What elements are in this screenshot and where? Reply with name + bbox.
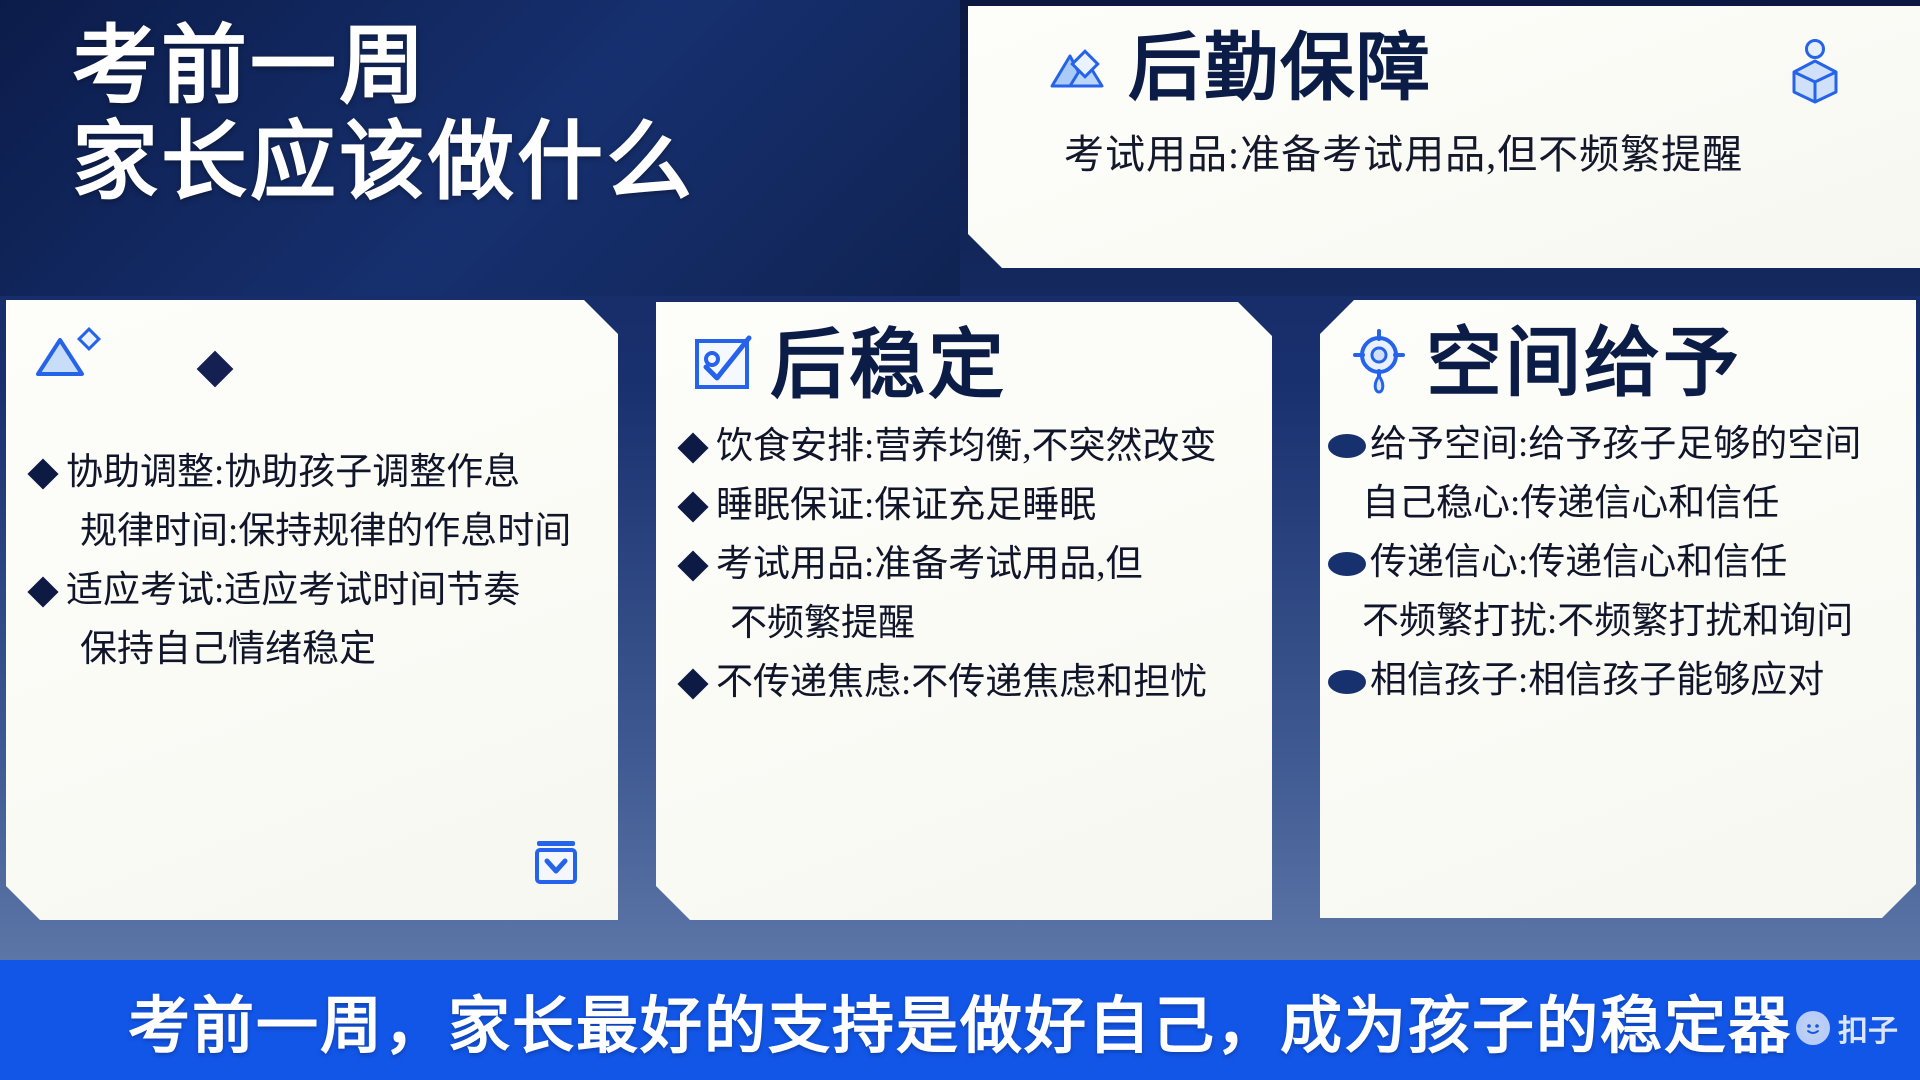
space-title: 空间给予 — [1426, 326, 1742, 402]
list-item-label: 睡眠保证:保证充足睡眠 — [716, 487, 1096, 524]
list-item[interactable]: 不传递焦虑:不传递焦虑和担忧 — [682, 664, 1250, 701]
mountain-diamond-icon — [32, 324, 106, 387]
mountain-diamond-icon — [1048, 42, 1110, 97]
list-item-label: 饮食安排:营养均衡,不突然改变 — [716, 428, 1217, 465]
card-logistics[interactable]: 后勤保障 考试用品:准备考试用品,但不频繁提醒 — [968, 6, 1920, 268]
coze-face-icon — [1796, 1011, 1830, 1045]
list-item-label: 不频繁打扰:不频繁打扰和询问 — [1362, 603, 1853, 640]
list-item-label: 适应考试:适应考试时间节奏 — [66, 572, 520, 609]
logistics-title: 后勤保障 — [1128, 32, 1432, 106]
list-item[interactable]: 规律时间:保持规律的作息时间 — [32, 513, 596, 550]
oval-bullet-icon — [1328, 670, 1366, 694]
list-item-label: 自己稳心:传递信心和信任 — [1362, 485, 1779, 522]
infographic-canvas: 考前一周 家长应该做什么 后勤保障 考试用品:准备考试用品,但不频繁提醒 — [0, 0, 1920, 1080]
list-item[interactable]: 传递信心:传递信心和信任 — [1328, 544, 1894, 581]
oval-bullet-icon — [1328, 552, 1366, 576]
title-line-2: 家长应该做什么 — [72, 114, 952, 210]
list-item-label: 相信孩子:相信孩子能够应对 — [1370, 662, 1824, 699]
diamond-bullet-icon — [677, 550, 708, 581]
list-item[interactable]: 协助调整:协助孩子调整作息 — [32, 454, 596, 491]
checkbox-check-icon — [692, 333, 754, 400]
list-item[interactable]: 自己稳心:传递信心和信任 — [1328, 485, 1894, 522]
list-item[interactable]: 适应考试:适应考试时间节奏 — [32, 572, 596, 609]
diamond-bullet-icon — [677, 668, 708, 699]
stable-title: 后稳定 — [770, 328, 1007, 404]
list-item-label: 保持自己情绪稳定 — [80, 631, 376, 668]
diamond-bullet-icon — [677, 432, 708, 463]
stable-body: 饮食安排:营养均衡,不突然改变 睡眠保证:保证充足睡眠 考试用品:准备考试用品,… — [656, 404, 1272, 701]
list-item-label: 给予空间:给予孩子足够的空间 — [1370, 426, 1861, 463]
title-line-1: 考前一周 — [72, 18, 952, 114]
list-item[interactable]: 相信孩子:相信孩子能够应对 — [1328, 662, 1894, 699]
card-adjust[interactable]: 协助调整:协助孩子调整作息 规律时间:保持规律的作息时间 适应考试:适应考试时间… — [6, 300, 618, 920]
list-item-label: 不传递焦虑:不传递焦虑和担忧 — [716, 664, 1207, 701]
logistics-subtitle: 考试用品:准备考试用品,但不频繁提醒 — [1064, 122, 1920, 180]
list-item-label: 不频繁提醒 — [730, 605, 915, 642]
page-title: 考前一周 家长应该做什么 — [72, 18, 952, 211]
logistics-header: 后勤保障 — [968, 6, 1920, 106]
calendar-chevron-icon[interactable] — [530, 837, 582, 894]
list-item-label: 协助调整:协助孩子调整作息 — [66, 454, 520, 491]
list-item[interactable]: 保持自己情绪稳定 — [32, 631, 596, 668]
diamond-bullet-icon — [677, 491, 708, 522]
oval-bullet-icon — [1328, 434, 1366, 458]
list-item-label: 规律时间:保持规律的作息时间 — [80, 513, 571, 550]
target-crosshair-icon — [1348, 328, 1410, 401]
space-header: 空间给予 — [1320, 300, 1916, 402]
card-space[interactable]: 空间给予 给予空间:给予孩子足够的空间 自己稳心:传递信心和信任 传递信心:传递… — [1320, 300, 1916, 918]
list-item-label: 传递信心:传递信心和信任 — [1370, 544, 1787, 581]
list-item[interactable]: 不频繁打扰:不频繁打扰和询问 — [1328, 603, 1894, 640]
space-body: 给予空间:给予孩子足够的空间 自己稳心:传递信心和信任 传递信心:传递信心和信任… — [1320, 402, 1916, 699]
watermark-label: 扣子 — [1838, 1006, 1898, 1050]
diamond-bullet-icon — [27, 576, 58, 607]
stable-header: 后稳定 — [656, 302, 1272, 404]
list-item[interactable]: 不频繁提醒 — [682, 605, 1250, 642]
list-item[interactable]: 给予空间:给予孩子足够的空间 — [1328, 426, 1894, 463]
diamond-bullet-icon — [27, 458, 58, 489]
cube-icon — [1788, 38, 1842, 109]
list-item-label: 考试用品:准备考试用品,但 — [716, 546, 1143, 583]
banner-text: 考前一周，家长最好的支持是做好自己，成为孩子的稳定器 — [128, 975, 1792, 1065]
watermark: 扣子 — [1796, 1006, 1898, 1050]
list-item[interactable]: 饮食安排:营养均衡,不突然改变 — [682, 428, 1250, 465]
adjust-header — [6, 300, 618, 326]
bottom-banner: 考前一周，家长最好的支持是做好自己，成为孩子的稳定器 — [0, 960, 1920, 1080]
list-item[interactable]: 睡眠保证:保证充足睡眠 — [682, 487, 1250, 524]
list-item[interactable]: 考试用品:准备考试用品,但 — [682, 546, 1250, 583]
card-stable[interactable]: 后稳定 饮食安排:营养均衡,不突然改变 睡眠保证:保证充足睡眠 考试用品:准备考… — [656, 302, 1272, 920]
